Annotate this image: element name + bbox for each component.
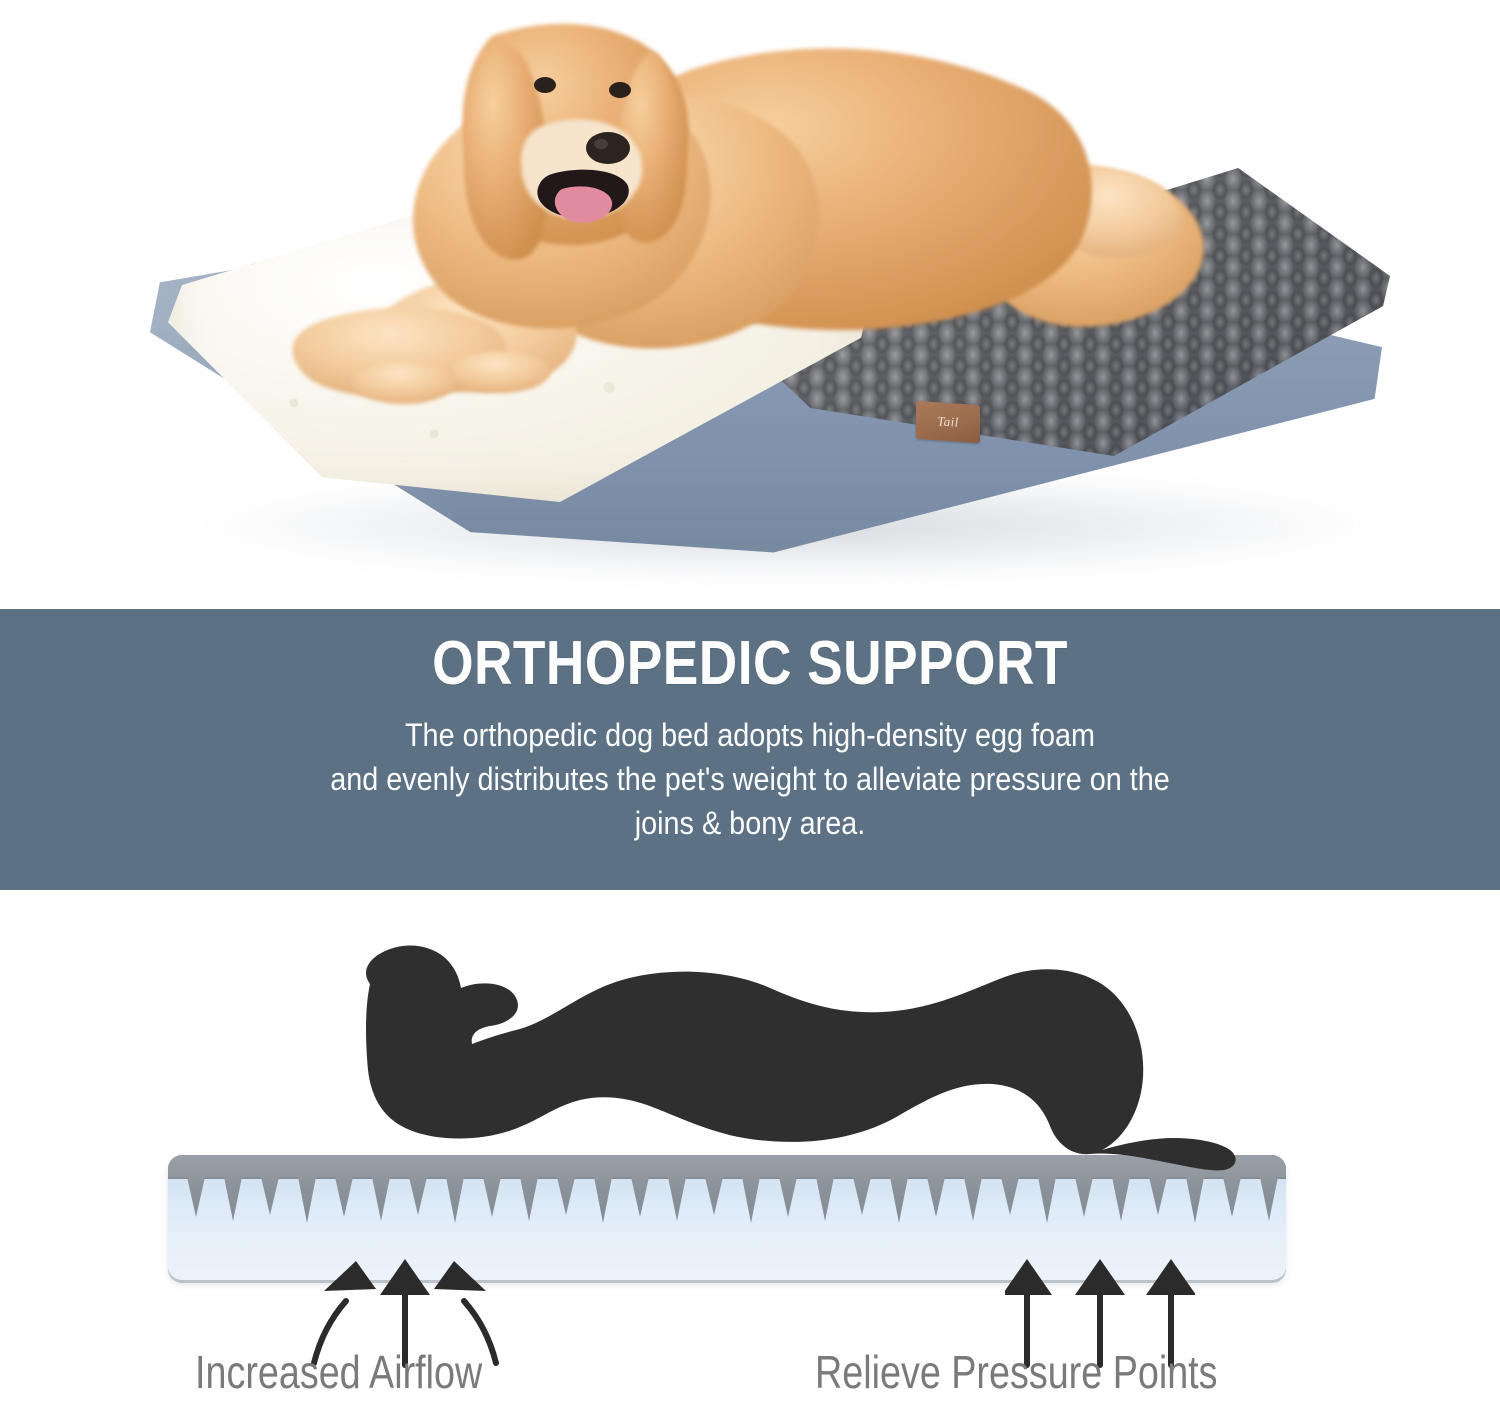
airflow-arrow-right-head <box>434 1261 486 1291</box>
caption-increased-airflow: Increased Airflow <box>195 1345 482 1399</box>
golden-retriever-dog <box>0 0 1500 609</box>
caption-relieve-pressure-points: Relieve Pressure Points <box>815 1345 1218 1399</box>
dog-silhouette <box>250 940 1260 1185</box>
product-photo-section: Tail <box>0 0 1500 609</box>
dog-front-paw-right <box>450 351 550 393</box>
airflow-arrow-mid-head <box>380 1259 430 1295</box>
orthopedic-support-banner: ORTHOPEDIC SUPPORT The orthopedic dog be… <box>0 609 1500 890</box>
banner-headline: ORTHOPEDIC SUPPORT <box>105 609 1395 695</box>
dog-nose <box>586 132 630 164</box>
dog-eye-right <box>609 82 631 98</box>
dog-nose-highlight <box>594 139 608 149</box>
dog-eye-left <box>534 77 556 93</box>
airflow-arrow-left-head <box>324 1261 376 1291</box>
pressure-arrow-3-head <box>1146 1259 1195 1295</box>
dog-front-paw-left <box>352 360 456 404</box>
banner-body-line-3: joins & bony area. <box>219 801 1281 845</box>
dog-photo-shape <box>0 0 1500 609</box>
banner-body-text: The orthopedic dog bed adopts high-densi… <box>219 695 1281 845</box>
pressure-arrow-2-head <box>1075 1259 1125 1295</box>
banner-body-line-2: and evenly distributes the pet's weight … <box>219 757 1281 801</box>
banner-body-line-1: The orthopedic dog bed adopts high-densi… <box>219 713 1281 757</box>
pressure-arrow-1-head <box>1005 1259 1052 1295</box>
dog-bed: Tail <box>0 0 1500 609</box>
airflow-pressure-diagram-section: Increased Airflow Relieve Pressure Point… <box>0 890 1500 1416</box>
